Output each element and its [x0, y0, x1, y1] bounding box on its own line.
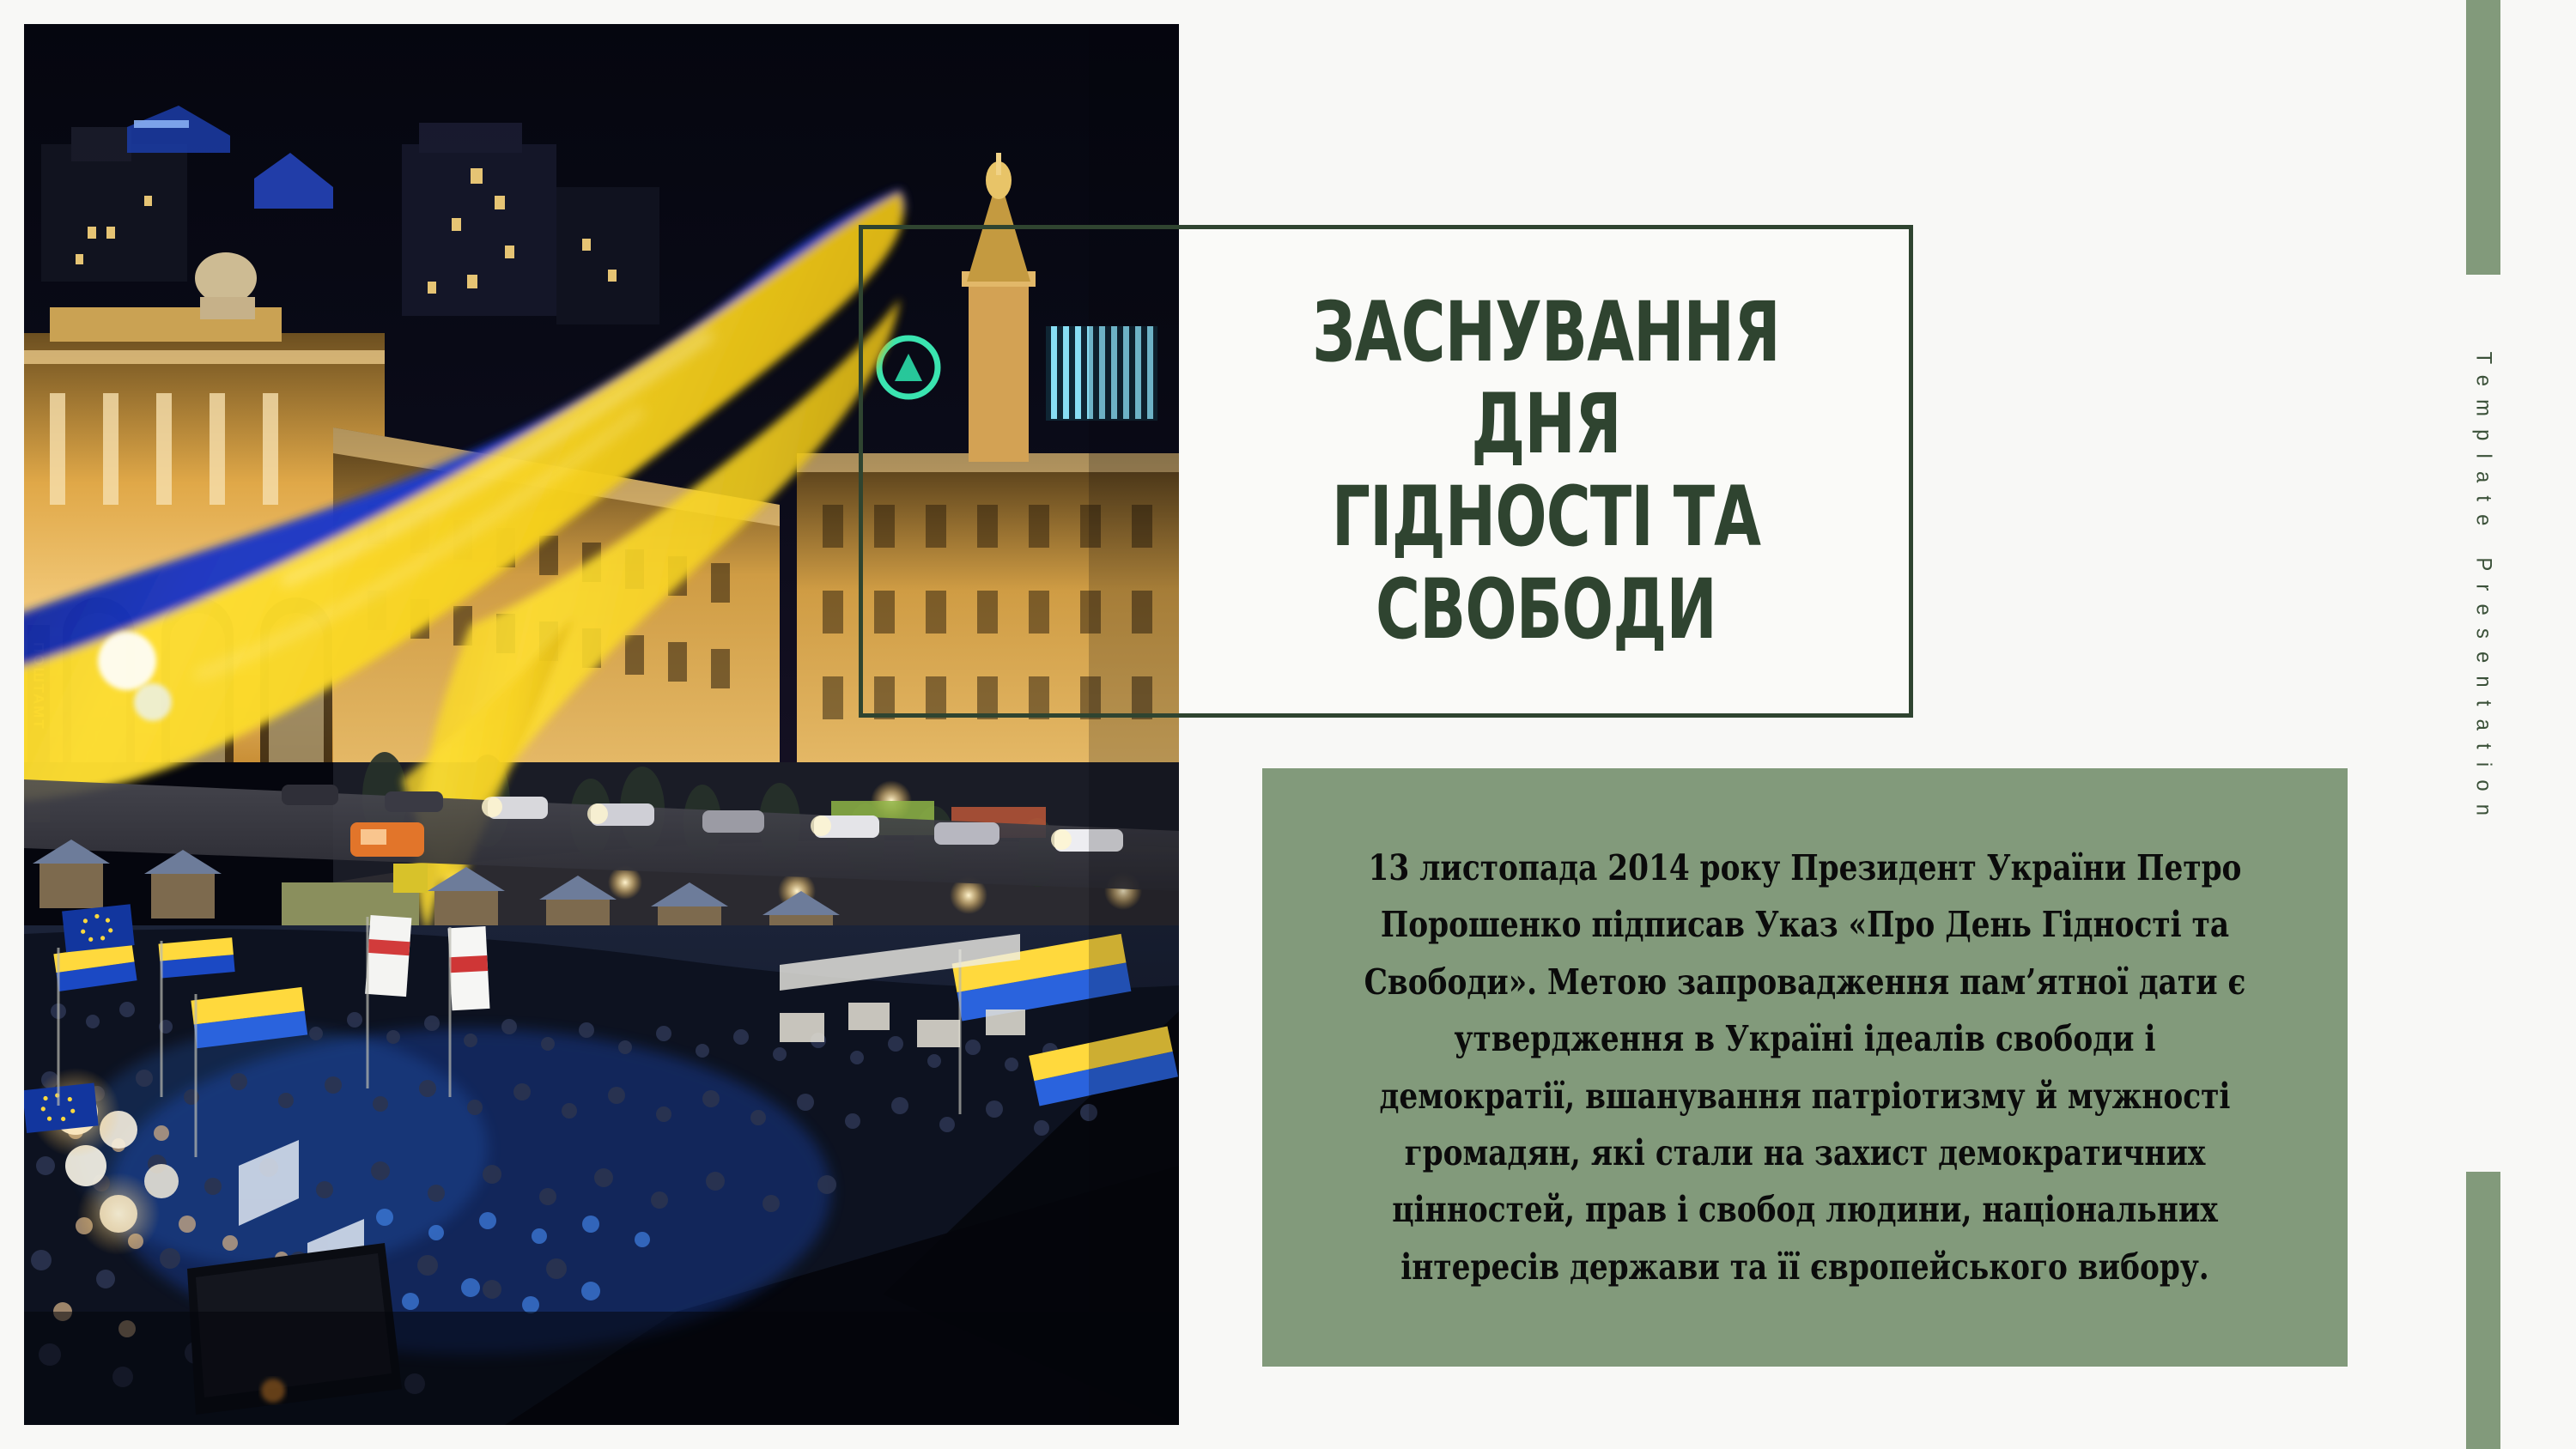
- maidan-photo: ПОШТАМТ: [24, 24, 1179, 1425]
- slide-canvas: ПОШТАМТ: [0, 0, 2576, 1449]
- title-card: ЗАСНУВАННЯ ДНЯ ГІДНОСТІ ТА СВОБОДИ: [1179, 229, 1913, 713]
- description-panel: 13 листопада 2014 року Президент України…: [1262, 768, 2348, 1367]
- sidebar-vertical-label: Template Presentation: [2437, 339, 2530, 1112]
- sidebar-label-text: Template Presentation: [2471, 352, 2496, 829]
- maidan-photo-artwork: ПОШТАМТ: [24, 24, 1179, 1425]
- sidebar-accent-bar-bottom: [2466, 1172, 2500, 1449]
- page-title: ЗАСНУВАННЯ ДНЯ ГІДНОСТІ ТА СВОБОДИ: [1245, 287, 1847, 656]
- sidebar-accent-bar-top: [2466, 0, 2500, 275]
- description-text: 13 листопада 2014 року Президент України…: [1300, 840, 2310, 1295]
